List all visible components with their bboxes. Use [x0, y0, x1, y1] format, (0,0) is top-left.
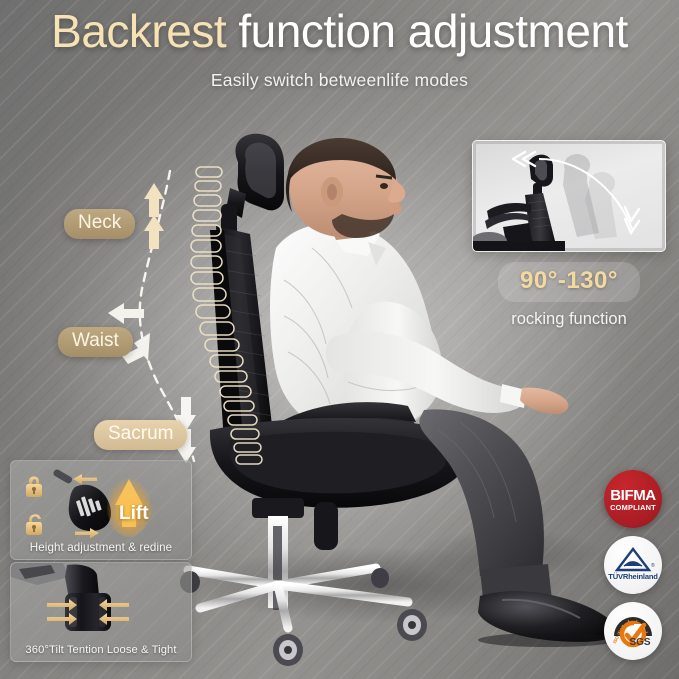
spine-label-waist: Waist — [58, 327, 133, 357]
height-adjustment-caption: Height adjustment & redine — [11, 541, 191, 554]
spine-label-sacrum: Sacrum — [94, 420, 187, 450]
tuv-triangle-icon: ® — [604, 536, 662, 594]
rocking-function-inset — [472, 140, 666, 252]
arrow-left-icon — [73, 474, 97, 485]
rocking-inset-frame — [472, 140, 666, 252]
person-dress-shoe — [478, 591, 618, 647]
bifma-main-text: BIFMA — [604, 487, 662, 504]
infographic-canvas: Backrest function adjustment Easily swit… — [0, 0, 679, 679]
title-highlight: Backrest — [51, 5, 226, 57]
rocking-caption-block: 90°-130° rocking function — [472, 262, 666, 329]
feature-card-tilt-tension: 360°Tilt Tention Loose & Tight — [10, 562, 192, 662]
angle-range-badge: 90°-130° — [498, 262, 640, 302]
sgs-mark-icon — [604, 602, 662, 660]
badge-tuv-rheinland: ® TÜVRheinland — [604, 536, 662, 594]
knob-image — [65, 593, 111, 631]
lock-closed-icon — [26, 477, 42, 498]
spine-label-neck: Neck — [64, 209, 135, 239]
bifma-sub-text: COMPLIANT — [604, 503, 662, 512]
badge-bifma-compliant: BIFMA COMPLIANT — [604, 470, 662, 528]
feature-card-height-adjustment: Lift Height adjustment & redine — [10, 460, 192, 560]
header: Backrest function adjustment Easily swit… — [0, 8, 679, 91]
badge-sgs: ISO 9001 SGS — [604, 602, 662, 660]
person-torso — [270, 223, 568, 437]
lift-label: Lift — [119, 503, 149, 525]
rocking-function-label: rocking function — [472, 310, 666, 329]
spine-diagram: Neck Waist Sacrum — [58, 165, 308, 465]
chair-back-upright — [472, 155, 565, 252]
page-title: Backrest function adjustment — [0, 8, 679, 56]
tuv-label: TÜVRheinland — [604, 572, 662, 581]
vertebrae-chain — [191, 167, 262, 464]
sgs-label: SGS — [611, 637, 669, 648]
svg-text:®: ® — [651, 562, 655, 569]
title-rest: function adjustment — [226, 5, 628, 57]
page-subtitle: Easily switch betweenlife modes — [0, 70, 679, 91]
lock-open-icon — [26, 514, 42, 535]
tilt-tension-caption: 360°Tilt Tention Loose & Tight — [11, 644, 191, 656]
rocking-illustration — [473, 141, 666, 252]
